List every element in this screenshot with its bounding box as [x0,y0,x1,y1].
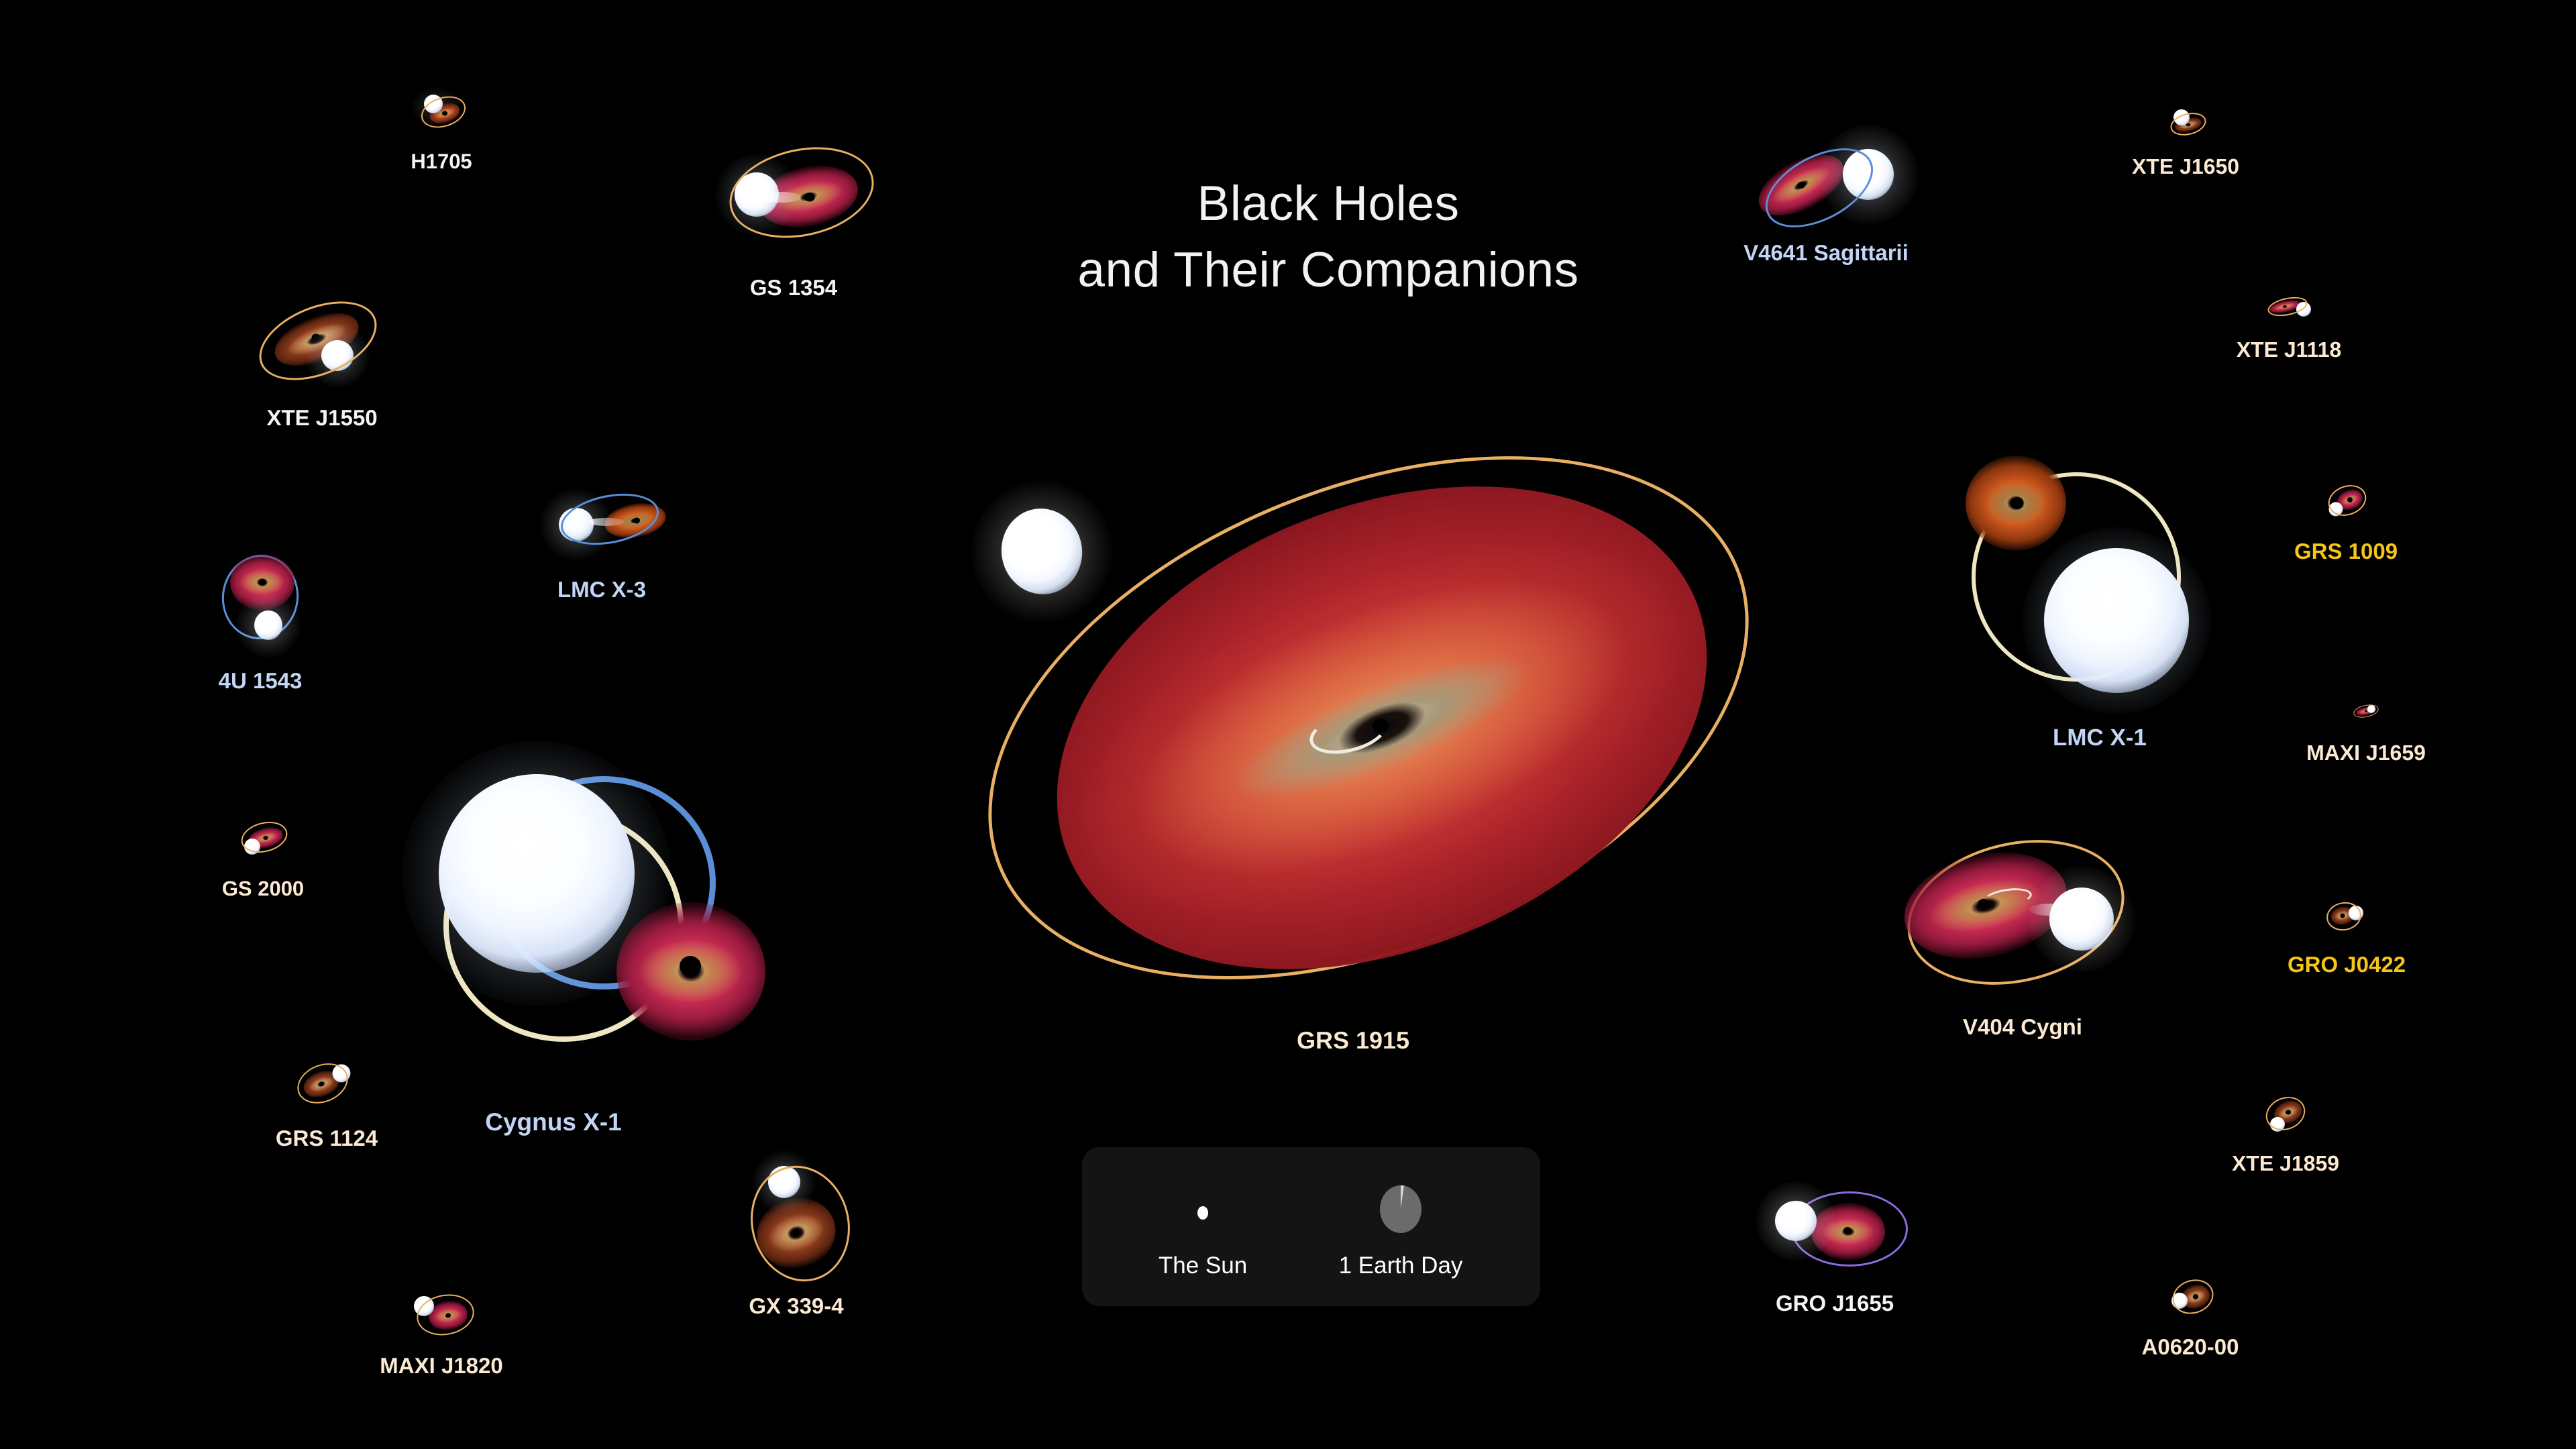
legend-label-sun: The Sun [1159,1252,1247,1279]
legend-item-sun: The Sun [1122,1147,1283,1306]
black-hole [2011,497,2024,509]
system-label: XTE J1550 [266,405,377,431]
system-label: XTE J1650 [2132,154,2239,179]
companion-star [2044,548,2189,693]
clock-pie-icon [1380,1185,1421,1233]
accretion-stream [2029,904,2070,916]
companion-star [2049,888,2114,951]
system-label: MAXI J1820 [380,1353,502,1379]
companion-star [254,610,282,640]
system-label: A0620-00 [2142,1334,2239,1360]
system-label: V4641 Sagittarii [1743,240,1909,266]
black-hole [259,579,266,586]
system-label: GRO J0422 [2288,952,2406,977]
system-label: GRS 1124 [276,1126,378,1151]
system-label: GRS 1009 [2294,539,2398,564]
system-label: LMC X-3 [557,577,646,602]
black-hole [680,956,701,976]
orbit-path [2324,480,2371,521]
companion-star [1775,1201,1817,1241]
system-label: Cygnus X-1 [485,1108,622,1136]
system-label: XTE J1118 [2237,337,2342,362]
orbit-path [2168,1275,2218,1320]
system-label: MAXI J1659 [2306,741,2426,765]
black-hole-poster: Black Holes and Their Companions H1705 G… [0,0,2576,1449]
system-label: 4U 1543 [219,668,303,694]
system-label: GX 339-4 [749,1293,843,1319]
system-label: GS 1354 [750,275,837,301]
system-label: GS 2000 [222,877,304,901]
system-label: H1705 [411,150,472,174]
system-label: XTE J1859 [2232,1151,2339,1176]
page-title: Black Holes and Their Companions [1033,171,1623,303]
orbit-path [2324,900,2364,933]
system-label: LMC X-1 [2053,724,2147,751]
legend-label-earth-day: 1 Earth Day [1339,1252,1463,1279]
companion-star [439,774,635,973]
system-label: V404 Cygni [1963,1014,2082,1040]
scale-legend: The Sun 1 Earth Day [1082,1147,1540,1306]
orbit-path [2353,702,2380,720]
system-label: GRS 1915 [1297,1026,1409,1055]
sun-dot-icon [1197,1206,1208,1220]
black-hole [1844,1227,1851,1234]
legend-item-earth-day: 1 Earth Day [1303,1147,1498,1306]
orbit-path [2261,1091,2310,1136]
system-label: GRO J1655 [1776,1291,1894,1316]
